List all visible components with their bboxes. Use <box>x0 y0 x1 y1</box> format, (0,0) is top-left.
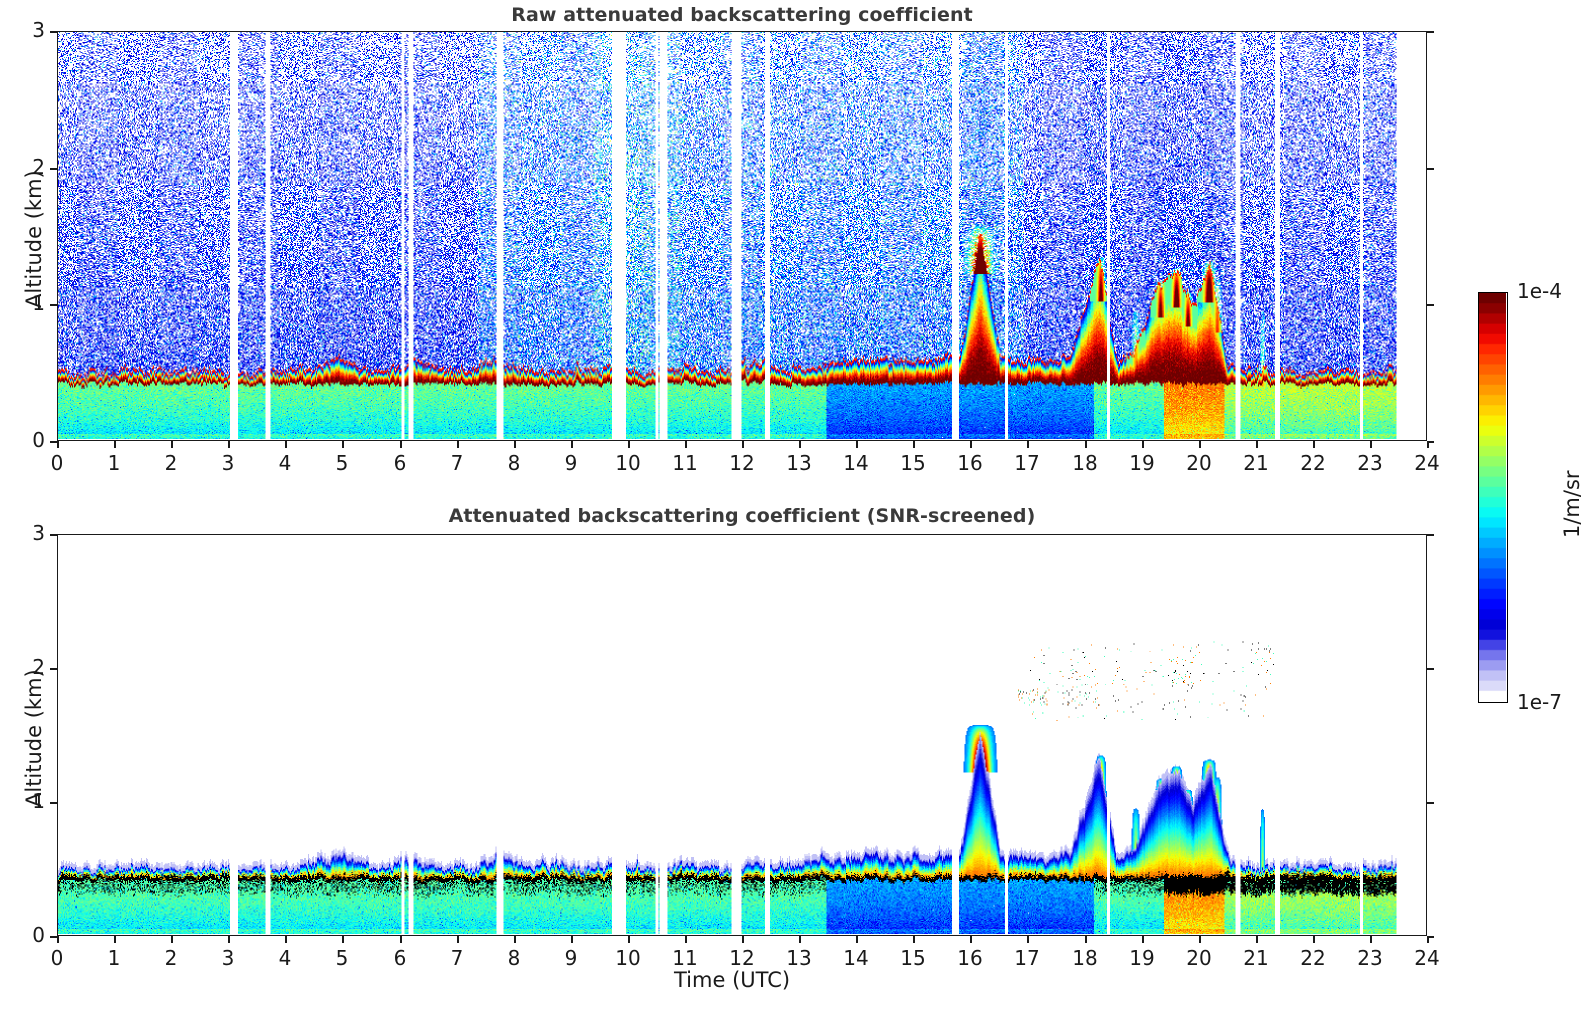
panel2-x-tick <box>400 936 402 943</box>
panel1-y-tick-right <box>1427 31 1434 33</box>
panel1-x-tick-label: 19 <box>1122 451 1162 475</box>
panel1-x-tick-label: 10 <box>608 451 648 475</box>
panel2-x-tick-label: 15 <box>893 946 933 970</box>
panel2-x-tick <box>1370 936 1372 943</box>
panel1-x-tick <box>285 441 287 448</box>
panel1-x-tick <box>628 441 630 448</box>
panel2-x-tick <box>1313 936 1315 943</box>
panel2-x-tick <box>571 936 573 943</box>
panel1-x-tick <box>57 441 59 448</box>
panel1-x-tick-label: 22 <box>1293 451 1333 475</box>
panel2-x-tick-label: 11 <box>665 946 705 970</box>
panel2-x-tick <box>685 936 687 943</box>
panel1-x-tick-label: 0 <box>37 451 77 475</box>
panel1-x-tick-label: 8 <box>494 451 534 475</box>
panel2-x-tick <box>171 936 173 943</box>
panel2-y-tick-right <box>1427 668 1434 670</box>
panel1-x-tick <box>685 441 687 448</box>
panel1-x-tick-label: 7 <box>437 451 477 475</box>
panel1-y-tick <box>50 168 57 170</box>
panel2-x-tick-label: 8 <box>494 946 534 970</box>
panel1-y-tick <box>50 31 57 33</box>
panel2-x-tick <box>1256 936 1258 943</box>
panel1-title: Raw attenuated backscattering coefficien… <box>57 4 1427 26</box>
panel2-y-tick-label: 0 <box>5 923 45 947</box>
panel1-plot-area <box>57 31 1427 441</box>
panel2-x-tick-label: 10 <box>608 946 648 970</box>
panel2-x-tick <box>457 936 459 943</box>
panel1-x-tick-label: 3 <box>208 451 248 475</box>
panel1-x-tick-label: 12 <box>722 451 762 475</box>
panel2-y-tick-label: 1 <box>5 789 45 813</box>
panel1-y-tick-right <box>1427 441 1434 443</box>
panel2-x-tick-label: 23 <box>1350 946 1390 970</box>
panel2-x-tick-label: 20 <box>1179 946 1219 970</box>
panel1-x-tick-label: 13 <box>779 451 819 475</box>
panel1-x-tick <box>1256 441 1258 448</box>
panel2-x-tick <box>1142 936 1144 943</box>
panel1-x-tick <box>114 441 116 448</box>
panel2-x-axis-label: Time (UTC) <box>674 968 790 992</box>
panel2-x-tick-label: 16 <box>950 946 990 970</box>
panel2-x-tick <box>1199 936 1201 943</box>
panel2-x-tick <box>285 936 287 943</box>
panel1-x-tick-label: 9 <box>551 451 591 475</box>
panel1-x-tick <box>514 441 516 448</box>
panel2-y-tick <box>50 802 57 804</box>
panel1-x-tick <box>1313 441 1315 448</box>
panel1-x-tick-label: 1 <box>94 451 134 475</box>
panel1-x-tick-label: 2 <box>151 451 191 475</box>
panel2-x-tick <box>114 936 116 943</box>
panel1-x-tick-label: 5 <box>322 451 362 475</box>
panel1-x-tick <box>913 441 915 448</box>
panel2-x-tick <box>514 936 516 943</box>
panel2-y-tick <box>50 534 57 536</box>
panel1-y-tick-label: 1 <box>5 291 45 315</box>
panel1-y-tick-label: 3 <box>5 18 45 42</box>
panel1-x-tick-label: 16 <box>950 451 990 475</box>
panel1-x-tick <box>799 441 801 448</box>
panel1-x-tick <box>970 441 972 448</box>
colorbar-unit-label: 1/m/sr <box>1560 470 1584 538</box>
panel1-heatmap-canvas <box>58 32 1425 439</box>
panel1-x-tick <box>342 441 344 448</box>
panel2-y-axis-label: Altitude (km) <box>22 669 46 807</box>
panel1-x-tick-label: 21 <box>1236 451 1276 475</box>
panel2-x-tick-label: 24 <box>1407 946 1447 970</box>
colorbar-min-label: 1e-7 <box>1517 690 1562 714</box>
panel2-x-tick <box>228 936 230 943</box>
panel2-x-tick <box>913 936 915 943</box>
panel1-x-tick-label: 17 <box>1007 451 1047 475</box>
panel2-x-tick <box>342 936 344 943</box>
panel2-x-tick <box>856 936 858 943</box>
panel2-y-tick-label: 2 <box>5 655 45 679</box>
panel2-title: Attenuated backscattering coefficient (S… <box>57 505 1427 527</box>
panel1-x-tick-label: 24 <box>1407 451 1447 475</box>
panel1-x-tick <box>228 441 230 448</box>
panel1-x-tick <box>1199 441 1201 448</box>
panel1-x-tick <box>1027 441 1029 448</box>
panel2-x-tick <box>1027 936 1029 943</box>
panel1-x-tick-label: 4 <box>265 451 305 475</box>
panel2-heatmap-canvas <box>58 535 1425 934</box>
lidar-backscatter-figure: Raw attenuated backscattering coefficien… <box>0 0 1595 1020</box>
panel1-y-tick-label: 0 <box>5 428 45 452</box>
panel2-x-tick-label: 9 <box>551 946 591 970</box>
panel2-x-tick-label: 5 <box>322 946 362 970</box>
panel1-x-tick-label: 6 <box>380 451 420 475</box>
panel1-y-axis-label: Altitude (km) <box>22 170 46 308</box>
panel1-x-tick <box>742 441 744 448</box>
panel2-x-tick-label: 1 <box>94 946 134 970</box>
panel2-x-tick-label: 13 <box>779 946 819 970</box>
panel2-y-tick <box>50 936 57 938</box>
panel1-x-tick <box>1085 441 1087 448</box>
panel1-y-tick-right <box>1427 168 1434 170</box>
panel2-y-tick-right <box>1427 936 1434 938</box>
colorbar-max-label: 1e-4 <box>1517 279 1562 303</box>
panel1-x-tick <box>171 441 173 448</box>
panel2-x-tick <box>57 936 59 943</box>
panel2-x-tick-label: 17 <box>1007 946 1047 970</box>
panel2-x-tick-label: 14 <box>836 946 876 970</box>
panel1-x-tick-label: 15 <box>893 451 933 475</box>
panel2-x-tick-label: 6 <box>380 946 420 970</box>
panel2-x-tick-label: 3 <box>208 946 248 970</box>
panel1-x-tick-label: 23 <box>1350 451 1390 475</box>
panel2-x-tick <box>970 936 972 943</box>
panel2-x-tick-label: 18 <box>1065 946 1105 970</box>
panel2-x-tick-label: 4 <box>265 946 305 970</box>
panel2-x-tick-label: 0 <box>37 946 77 970</box>
panel1-x-tick <box>571 441 573 448</box>
panel1-x-tick-label: 20 <box>1179 451 1219 475</box>
panel1-x-tick <box>1370 441 1372 448</box>
panel1-y-tick <box>50 441 57 443</box>
panel2-x-tick <box>742 936 744 943</box>
panel2-x-tick <box>799 936 801 943</box>
panel1-x-tick <box>400 441 402 448</box>
panel2-y-tick-right <box>1427 802 1434 804</box>
panel2-x-tick-label: 21 <box>1236 946 1276 970</box>
panel1-x-tick-label: 14 <box>836 451 876 475</box>
colorbar-canvas <box>1479 293 1506 701</box>
panel1-x-tick <box>1142 441 1144 448</box>
panel2-x-tick-label: 12 <box>722 946 762 970</box>
panel2-x-tick <box>1085 936 1087 943</box>
panel2-x-tick-label: 2 <box>151 946 191 970</box>
panel2-x-tick-label: 19 <box>1122 946 1162 970</box>
panel1-x-tick-label: 18 <box>1065 451 1105 475</box>
panel1-x-tick <box>856 441 858 448</box>
colorbar <box>1478 292 1508 703</box>
panel1-x-tick-label: 11 <box>665 451 705 475</box>
panel2-x-tick <box>628 936 630 943</box>
panel2-y-tick <box>50 668 57 670</box>
panel2-y-tick-right <box>1427 534 1434 536</box>
panel2-x-tick-label: 7 <box>437 946 477 970</box>
panel1-x-tick <box>457 441 459 448</box>
panel2-x-tick-label: 22 <box>1293 946 1333 970</box>
panel2-plot-area <box>57 534 1427 936</box>
panel2-y-tick-label: 3 <box>5 521 45 545</box>
panel1-y-tick <box>50 304 57 306</box>
panel1-y-tick-label: 2 <box>5 155 45 179</box>
panel1-y-tick-right <box>1427 304 1434 306</box>
